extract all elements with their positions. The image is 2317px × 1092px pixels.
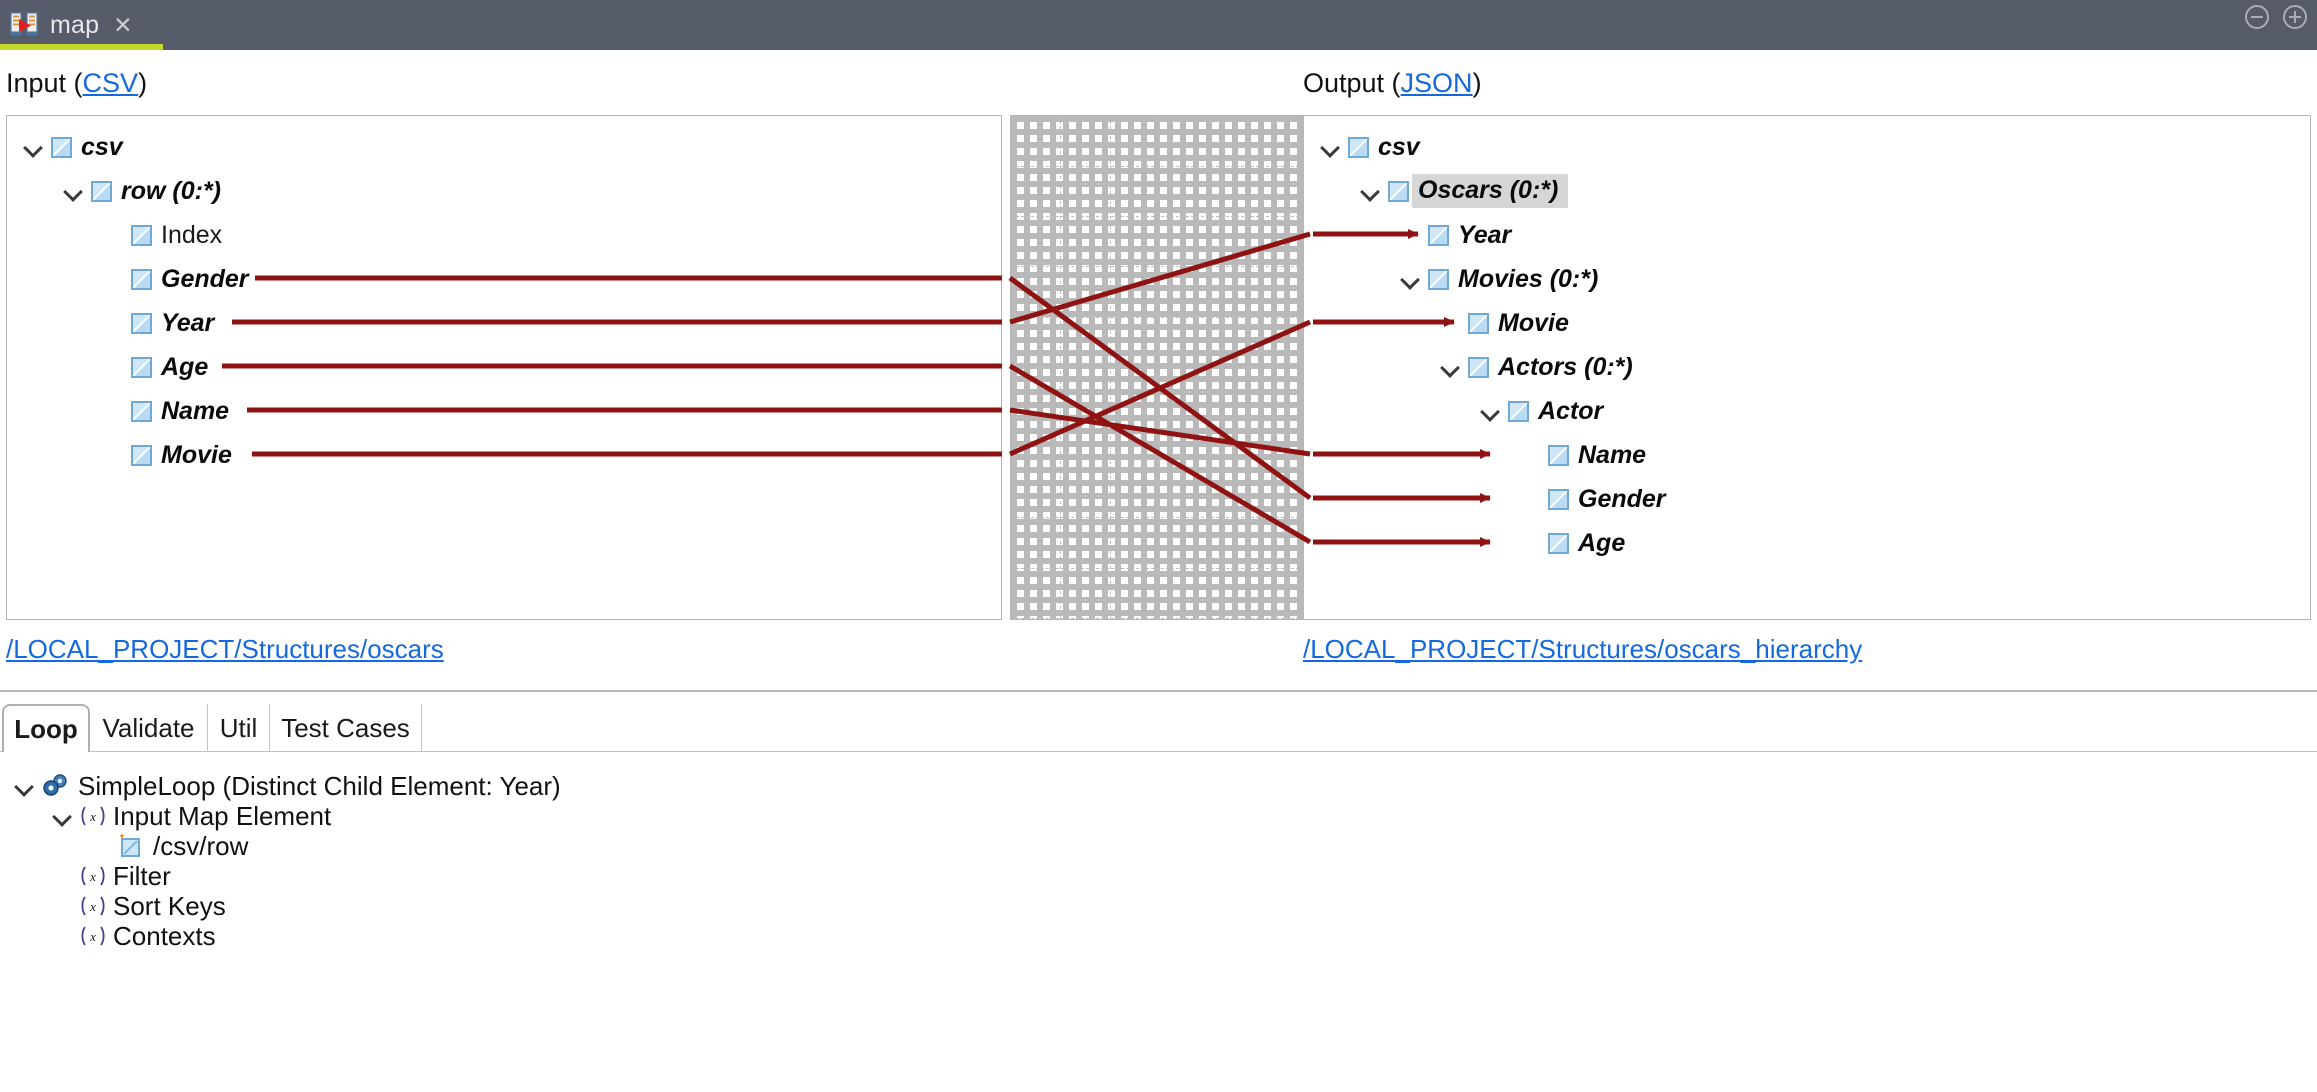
tree-row-label: Movies (0:*): [1458, 265, 1598, 293]
function-icon: x: [80, 893, 106, 919]
tree-row[interactable]: Name: [101, 393, 229, 429]
svg-text:x: x: [89, 899, 96, 914]
function-icon: x: [80, 923, 106, 949]
tree-row-label-wrap: Index: [161, 221, 222, 250]
chevron-down-icon[interactable]: [1318, 134, 1344, 160]
tab-map[interactable]: map ✕: [0, 0, 163, 50]
tab-label: map: [50, 11, 99, 40]
element-checkbox-icon[interactable]: [1348, 137, 1369, 158]
loop-tree-row-label: Filter: [113, 861, 171, 892]
element-checkbox-icon[interactable]: [131, 357, 152, 378]
tree-row-label: Year: [1458, 221, 1511, 249]
input-panel-header: Input (CSV): [6, 68, 147, 99]
input-source-path: /LOCAL_PROJECT/Structures/oscars: [6, 634, 444, 665]
tree-row-label: Year: [161, 309, 214, 337]
tree-row[interactable]: Name: [1518, 437, 1646, 473]
tree-row[interactable]: Movie: [1438, 305, 1569, 341]
bottom-tab-label: Loop: [14, 714, 78, 745]
element-checkbox-icon[interactable]: [1548, 489, 1569, 510]
bottom-tab-label: Util: [220, 713, 258, 744]
element-checkbox-icon[interactable]: [1468, 357, 1489, 378]
mapping-grid: [1011, 116, 1309, 619]
tree-row-label: csv: [1378, 133, 1420, 161]
input-header-prefix: Input (: [6, 68, 83, 98]
tree-row[interactable]: Actor: [1478, 393, 1603, 429]
tree-row-label-wrap: Actor: [1538, 397, 1603, 426]
element-checkbox-icon[interactable]: [131, 445, 152, 466]
tree-row-label: Age: [1578, 529, 1625, 557]
tree-row-label: csv: [81, 133, 123, 161]
svg-text:x: x: [89, 929, 96, 944]
chevron-down-icon[interactable]: [61, 178, 87, 204]
chevron-down-icon[interactable]: [1478, 398, 1504, 424]
bottom-tab-label: Validate: [102, 713, 194, 744]
chevron-down-icon[interactable]: [1398, 266, 1424, 292]
output-header-prefix: Output (: [1303, 68, 1401, 98]
input-tree-panel[interactable]: csvrow (0:*)IndexGenderYearAgeNameMovie: [6, 115, 1002, 620]
tree-row[interactable]: Movies (0:*): [1398, 261, 1598, 297]
bottom-tabstrip[interactable]: LoopValidateUtilTest Cases: [0, 704, 2317, 752]
output-source-link[interactable]: /LOCAL_PROJECT/Structures/oscars_hierarc…: [1303, 634, 1862, 664]
tree-row-label: row (0:*): [121, 177, 221, 205]
function-icon: x: [80, 803, 106, 829]
output-panel-header: Output (JSON): [1303, 68, 1482, 99]
close-icon[interactable]: ✕: [113, 14, 132, 37]
loop-tree-row-label: SimpleLoop (Distinct Child Element: Year…: [78, 771, 561, 802]
tree-row-label-wrap: Gender: [161, 265, 249, 294]
tree-row-label: Actor: [1538, 397, 1603, 425]
output-source-path: /LOCAL_PROJECT/Structures/oscars_hierarc…: [1303, 634, 1862, 665]
chevron-down-icon[interactable]: [1358, 178, 1384, 204]
element-checkbox-icon[interactable]: [131, 269, 152, 290]
maximize-icon[interactable]: [2283, 5, 2307, 29]
bottom-tab-validate[interactable]: Validate: [90, 704, 208, 752]
tree-row-label-wrap: Age: [1578, 529, 1625, 558]
tree-row[interactable]: Index: [101, 217, 222, 253]
chevron-down-icon[interactable]: [1438, 354, 1464, 380]
loop-tree-row-label: Sort Keys: [113, 891, 226, 922]
tree-row[interactable]: Oscars (0:*): [1358, 173, 1568, 209]
tree-row-label: Name: [161, 397, 229, 425]
gears-icon: [42, 773, 70, 799]
bottom-tab-util[interactable]: Util: [208, 704, 270, 752]
input-format-link[interactable]: CSV: [83, 68, 139, 98]
loop-tree-row-label: /csv/row: [153, 831, 248, 862]
element-checkbox-icon[interactable]: [1468, 313, 1489, 334]
map-transform-icon: [10, 10, 40, 40]
tree-row-label: Gender: [1578, 485, 1666, 513]
minimize-icon[interactable]: [2245, 5, 2269, 29]
svg-text:x: x: [89, 869, 96, 884]
title-bar: map ✕: [0, 0, 2317, 50]
tree-row-label-wrap: Year: [161, 309, 214, 338]
function-icon: x: [80, 863, 106, 889]
chevron-down-icon[interactable]: [50, 803, 76, 829]
input-header-suffix: ): [138, 68, 147, 98]
tree-row[interactable]: Movie: [101, 437, 232, 473]
tree-row-label: Name: [1578, 441, 1646, 469]
tree-row-label-wrap: Actors (0:*): [1498, 353, 1633, 382]
element-new-icon: [118, 833, 144, 859]
output-tree-panel[interactable]: csvOscars (0:*)YearMovies (0:*)MovieActo…: [1303, 115, 2311, 620]
output-header-suffix: ): [1473, 68, 1482, 98]
bottom-tab-label: Test Cases: [281, 713, 410, 744]
chevron-down-icon[interactable]: [21, 134, 47, 160]
tree-row-label: Oscars (0:*): [1418, 176, 1558, 204]
element-checkbox-icon[interactable]: [91, 181, 112, 202]
output-format-link[interactable]: JSON: [1401, 68, 1473, 98]
tree-row-label: Age: [161, 353, 208, 381]
tree-row[interactable]: Actors (0:*): [1438, 349, 1633, 385]
loop-tree-row[interactable]: xContexts: [50, 918, 216, 954]
element-checkbox-icon[interactable]: [1548, 445, 1569, 466]
svg-text:x: x: [89, 809, 96, 824]
tree-row-label-wrap: Age: [161, 353, 208, 382]
tree-row-label: Gender: [161, 265, 249, 293]
bottom-separator: [0, 690, 2317, 692]
tree-row-label-wrap: Name: [161, 397, 229, 426]
loop-tree-row-label: Contexts: [113, 921, 216, 952]
tree-row-label-wrap: Name: [1578, 441, 1646, 470]
tree-row-label-wrap: Gender: [1578, 485, 1666, 514]
tree-row-label-wrap: Movie: [161, 441, 232, 470]
element-checkbox-icon[interactable]: [1508, 401, 1529, 422]
element-checkbox-icon[interactable]: [1428, 269, 1449, 290]
tree-row-label-wrap: csv: [1378, 133, 1420, 162]
tree-row[interactable]: Age: [101, 349, 208, 385]
tree-row-label-wrap: Oscars (0:*): [1412, 174, 1568, 208]
tree-row[interactable]: row (0:*): [61, 173, 221, 209]
element-checkbox-icon[interactable]: [131, 401, 152, 422]
tree-row-label: Actors (0:*): [1498, 353, 1633, 381]
tree-row[interactable]: Year: [1398, 217, 1511, 253]
tree-row-label-wrap: csv: [81, 133, 123, 162]
tree-row-label-wrap: Movie: [1498, 309, 1569, 338]
tree-row-label: Index: [161, 221, 222, 249]
tree-row[interactable]: Gender: [1518, 481, 1666, 517]
tree-row-label-wrap: Year: [1458, 221, 1511, 250]
bottom-tab-test-cases[interactable]: Test Cases: [270, 704, 422, 752]
tree-row[interactable]: csv: [21, 129, 123, 165]
tree-row[interactable]: Age: [1518, 525, 1625, 561]
tab-active-indicator: [0, 44, 163, 50]
tree-row-label: Movie: [1498, 309, 1569, 337]
element-checkbox-icon[interactable]: [1388, 181, 1409, 202]
mapping-canvas[interactable]: [1010, 115, 1310, 620]
chevron-down-icon[interactable]: [12, 773, 38, 799]
element-checkbox-icon[interactable]: [51, 137, 72, 158]
bottom-tab-loop[interactable]: Loop: [2, 704, 90, 752]
window-controls: [2245, 5, 2307, 29]
tree-row-label-wrap: row (0:*): [121, 177, 221, 206]
element-checkbox-icon[interactable]: [1548, 533, 1569, 554]
tree-row-label: Movie: [161, 441, 232, 469]
tree-row[interactable]: Gender: [101, 261, 249, 297]
element-checkbox-icon[interactable]: [131, 225, 152, 246]
input-source-link[interactable]: /LOCAL_PROJECT/Structures/oscars: [6, 634, 444, 664]
element-checkbox-icon[interactable]: [1428, 225, 1449, 246]
element-checkbox-icon[interactable]: [131, 313, 152, 334]
tree-row-label-wrap: Movies (0:*): [1458, 265, 1598, 294]
loop-tree-row-label: Input Map Element: [113, 801, 331, 832]
tree-row[interactable]: Year: [101, 305, 214, 341]
tree-row[interactable]: csv: [1318, 129, 1420, 165]
